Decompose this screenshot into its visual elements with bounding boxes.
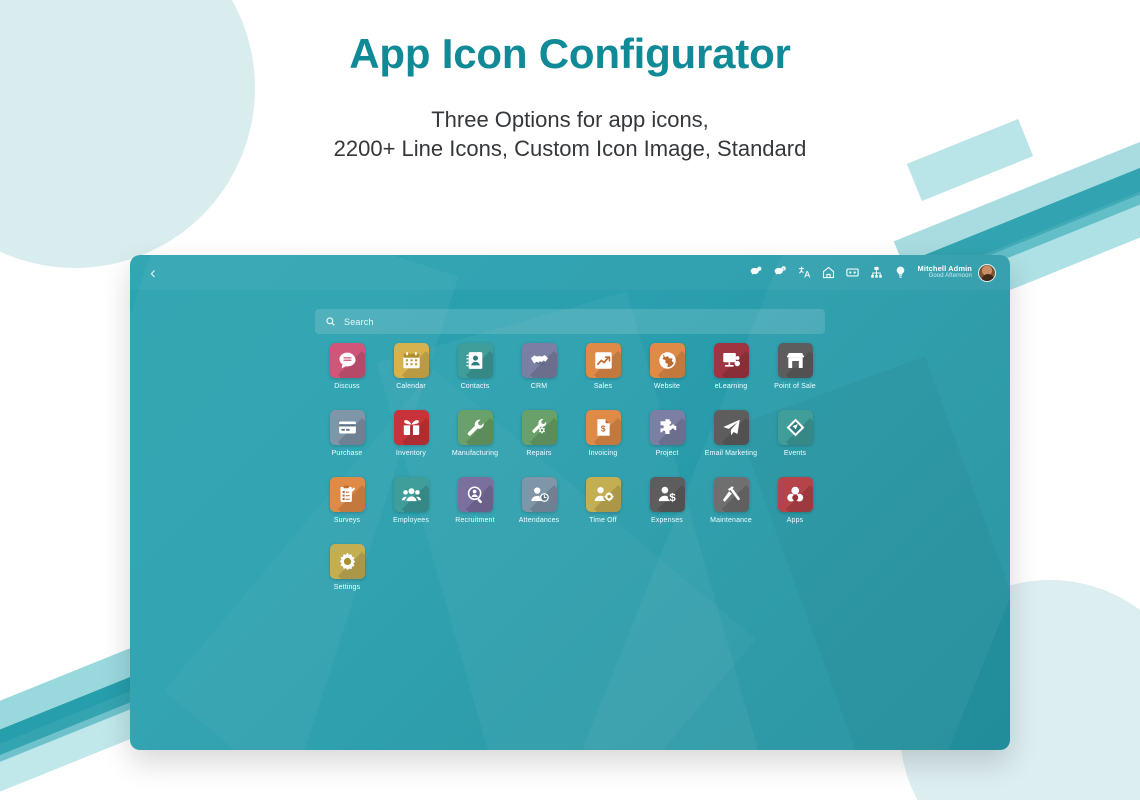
person-gear-icon[interactable] — [586, 477, 621, 512]
app-tile-maintenance[interactable]: Maintenance — [699, 477, 763, 524]
systray: 1 — [749, 265, 908, 280]
svg-text:$: $ — [669, 492, 676, 504]
app-label: Discuss — [334, 383, 360, 390]
app-tile-crm[interactable]: CRM — [507, 343, 571, 390]
globe-icon[interactable] — [650, 343, 685, 378]
app-label: Project — [656, 450, 679, 457]
app-label: Contacts — [461, 383, 490, 390]
app-label: Expenses — [651, 517, 683, 524]
search-placeholder: Search — [344, 317, 374, 327]
app-tile-project[interactable]: Project — [635, 410, 699, 457]
hammer-icon[interactable] — [714, 477, 749, 512]
app-label: eLearning — [715, 383, 748, 390]
cubes-icon[interactable] — [778, 477, 813, 512]
app-tile-contacts[interactable]: Contacts — [443, 343, 507, 390]
app-label: CRM — [531, 383, 547, 390]
translate-icon[interactable] — [797, 265, 812, 280]
screenshot-root: App Icon Configurator Three Options for … — [0, 0, 1140, 800]
activities-icon[interactable]: 1 — [773, 265, 788, 280]
app-tile-elearning[interactable]: eLearning — [699, 343, 763, 390]
app-tile-attendances[interactable]: Attendances — [507, 477, 571, 524]
app-label: Website — [654, 383, 680, 390]
app-tile-manufacturing[interactable]: Manufacturing — [443, 410, 507, 457]
app-label: Time Off — [589, 517, 617, 524]
app-tile-discuss[interactable]: Discuss — [315, 343, 379, 390]
user-text: Mitchell Admin Good Afternoon — [918, 265, 972, 281]
magnifier-person-icon[interactable] — [458, 477, 493, 512]
app-tile-events[interactable]: Events — [763, 410, 827, 457]
apps-grid-icon[interactable] — [845, 265, 860, 280]
app-label: Email Marketing — [705, 450, 757, 457]
app-tile-sales[interactable]: Sales — [571, 343, 635, 390]
svg-text:1: 1 — [782, 267, 784, 271]
presentation-icon[interactable] — [714, 343, 749, 378]
person-clock-icon[interactable] — [522, 477, 557, 512]
app-label: Recruitment — [455, 517, 494, 524]
credit-card-icon[interactable] — [330, 410, 365, 445]
wrench-icon[interactable] — [458, 410, 493, 445]
search-input[interactable]: Search — [315, 309, 825, 334]
app-label: Attendances — [519, 517, 560, 524]
page-title: App Icon Configurator — [0, 30, 1140, 78]
app-tile-settings[interactable]: Settings — [315, 544, 379, 591]
app-tile-recruitment[interactable]: Recruitment — [443, 477, 507, 524]
invoice-icon[interactable]: $ — [586, 410, 621, 445]
back-button[interactable]: ‹ — [144, 264, 162, 281]
app-label: Maintenance — [710, 517, 752, 524]
app-label: Purchase — [332, 450, 363, 457]
page-subtitle-line-1: Three Options for app icons, — [0, 105, 1140, 134]
chat-bubble-icon[interactable] — [330, 343, 365, 378]
app-tile-email-marketing[interactable]: Email Marketing — [699, 410, 763, 457]
lightbulb-icon[interactable] — [893, 265, 908, 280]
search-icon — [325, 316, 336, 327]
app-tile-calendar[interactable]: Calendar — [379, 343, 443, 390]
contact-card-icon[interactable] — [458, 343, 493, 378]
ticket-icon[interactable] — [778, 410, 813, 445]
app-label: Events — [784, 450, 806, 457]
app-tile-expenses[interactable]: $Expenses — [635, 477, 699, 524]
app-tile-inventory[interactable]: Inventory — [379, 410, 443, 457]
user-menu[interactable]: Mitchell Admin Good Afternoon — [918, 264, 996, 282]
avatar[interactable] — [978, 264, 996, 282]
app-tile-website[interactable]: Website — [635, 343, 699, 390]
wrench-gear-icon[interactable] — [522, 410, 557, 445]
app-label: Surveys — [334, 517, 360, 524]
sitemap-icon[interactable] — [869, 265, 884, 280]
storefront-icon[interactable] — [778, 343, 813, 378]
user-greeting: Good Afternoon — [918, 273, 972, 280]
app-grid: DiscussCalendarContactsCRMSalesWebsiteeL… — [315, 343, 955, 611]
app-label: Manufacturing — [452, 450, 498, 457]
app-tile-apps[interactable]: Apps — [763, 477, 827, 524]
page-subtitle-line-2: 2200+ Line Icons, Custom Icon Image, Sta… — [0, 134, 1140, 163]
app-tile-invoicing[interactable]: $Invoicing — [571, 410, 635, 457]
app-label: Apps — [787, 517, 804, 524]
puzzle-icon[interactable] — [650, 410, 685, 445]
app-label: Inventory — [396, 450, 426, 457]
app-label: Repairs — [526, 450, 551, 457]
app-tile-employees[interactable]: Employees — [379, 477, 443, 524]
app-label: Sales — [594, 383, 612, 390]
app-label: Calendar — [396, 383, 426, 390]
open-box-icon[interactable] — [394, 410, 429, 445]
chart-up-icon[interactable] — [586, 343, 621, 378]
home-icon[interactable] — [821, 265, 836, 280]
gear-icon[interactable] — [330, 544, 365, 579]
calendar-icon[interactable] — [394, 343, 429, 378]
app-tile-point-of-sale[interactable]: Point of Sale — [763, 343, 827, 390]
messages-icon[interactable] — [749, 265, 764, 280]
handshake-icon[interactable] — [522, 343, 557, 378]
app-tile-time-off[interactable]: Time Off — [571, 477, 635, 524]
app-window: ‹ 1 — [130, 255, 1010, 750]
paper-plane-icon[interactable] — [714, 410, 749, 445]
app-label: Invoicing — [589, 450, 618, 457]
person-dollar-icon[interactable]: $ — [650, 477, 685, 512]
app-tile-surveys[interactable]: Surveys — [315, 477, 379, 524]
app-label: Point of Sale — [774, 383, 816, 390]
svg-text:$: $ — [600, 424, 605, 434]
app-tile-purchase[interactable]: Purchase — [315, 410, 379, 457]
people-icon[interactable] — [394, 477, 429, 512]
window-topbar: ‹ 1 — [130, 255, 1010, 290]
user-name: Mitchell Admin — [918, 265, 972, 274]
app-label: Settings — [334, 584, 361, 591]
app-label: Employees — [393, 517, 429, 524]
clipboard-pen-icon[interactable] — [330, 477, 365, 512]
page-subtitle: Three Options for app icons, 2200+ Line … — [0, 105, 1140, 163]
app-tile-repairs[interactable]: Repairs — [507, 410, 571, 457]
